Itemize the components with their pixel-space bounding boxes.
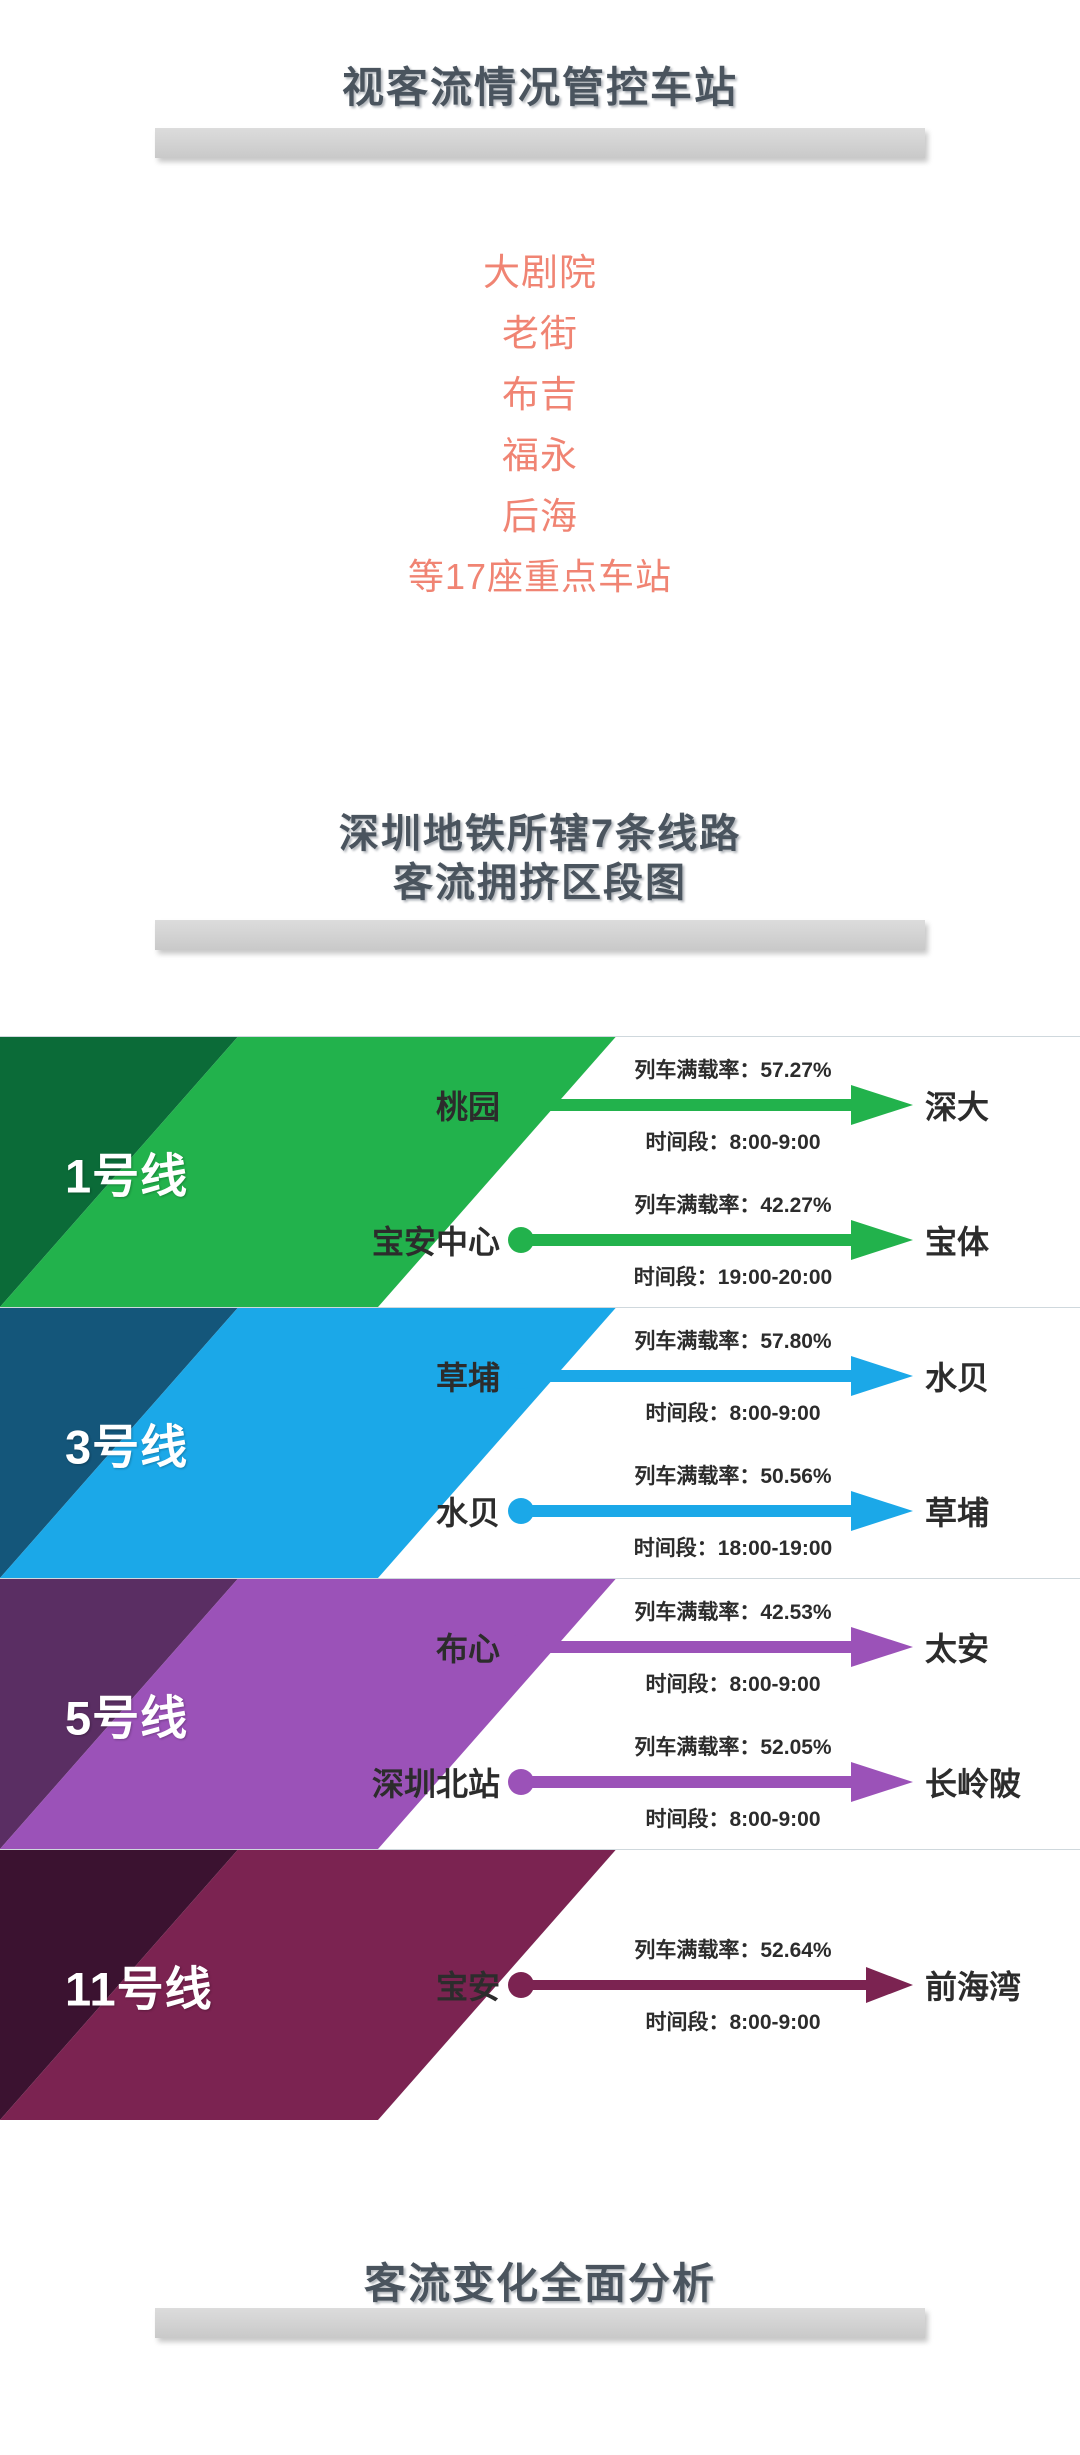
origin-station-label: 布心 — [330, 1624, 508, 1670]
section-heading-banner: 深圳地铁所辖7条线路 客流拥挤区段图 — [0, 800, 1080, 908]
destination-station-label: 草埔 — [913, 1488, 989, 1534]
flow-row-group: 草埔 列车满载率：57.80% 时间段：8:00-9:00 水贝 水贝 — [330, 1308, 1080, 1578]
flow-arrow-group: 列车满载率：42.27% 时间段：19:00-20:00 — [508, 1185, 913, 1295]
heading-bar-decoration — [155, 128, 925, 158]
direction-arrow-icon — [521, 1220, 913, 1260]
flow-row-group: 宝安 列车满载率：52.64% 时间段：8:00-9:00 前海湾 — [330, 1850, 1080, 2120]
list-item: 布吉 — [0, 364, 1080, 425]
flow-row-group: 布心 列车满载率：42.53% 时间段：8:00-9:00 太安 深圳北站 — [330, 1579, 1080, 1849]
flow-row: 宝安 列车满载率：52.64% 时间段：8:00-9:00 前海湾 — [330, 1925, 1080, 2045]
line-band-5: 5号线 布心 列车满载率：42.53% 时间段：8:00-9:00 太安 深圳北… — [0, 1578, 1080, 1849]
list-item: 老街 — [0, 303, 1080, 364]
load-rate-label: 列车满载率：52.64% — [548, 1934, 918, 1964]
page-title: 视客流情况管控车站 — [0, 0, 1080, 113]
flow-arrow-group: 列车满载率：50.56% 时间段：18:00-19:00 — [508, 1456, 913, 1566]
flow-row: 深圳北站 列车满载率：52.05% 时间段：8:00-9:00 长岭陂 — [330, 1722, 1080, 1842]
origin-station-label: 宝安 — [330, 1962, 508, 2008]
time-period-label: 时间段：19:00-20:00 — [548, 1261, 918, 1291]
flow-arrow-group: 列车满载率：42.53% 时间段：8:00-9:00 — [508, 1592, 913, 1702]
flow-arrow-group: 列车满载率：57.80% 时间段：8:00-9:00 — [508, 1321, 913, 1431]
line-name-label: 3号线 — [65, 1409, 188, 1478]
load-rate-label: 列车满载率：50.56% — [548, 1460, 918, 1490]
heading-bar-decoration — [155, 920, 925, 950]
flow-arrow-group: 列车满载率：52.64% 时间段：8:00-9:00 — [508, 1930, 913, 2040]
time-period-label: 时间段：8:00-9:00 — [548, 1668, 918, 1698]
direction-arrow-icon — [521, 1627, 913, 1667]
direction-arrow-icon — [521, 1491, 913, 1531]
list-item: 福永 — [0, 425, 1080, 486]
flow-row: 桃园 列车满载率：57.27% 时间段：8:00-9:00 深大 — [330, 1045, 1080, 1165]
bottom-title: 客流变化全面分析 — [0, 2250, 1080, 2309]
direction-arrow-icon — [521, 1762, 913, 1802]
list-item: 后海 — [0, 486, 1080, 547]
direction-arrow-icon — [521, 1965, 913, 2005]
flow-row: 水贝 列车满载率：50.56% 时间段：18:00-19:00 草埔 — [330, 1451, 1080, 1571]
metro-line-bands: 1号线 桃园 列车满载率：57.27% 时间段：8:00-9:00 深大 宝安中… — [0, 1036, 1080, 2120]
origin-station-label: 宝安中心 — [330, 1217, 508, 1263]
line-band-1: 1号线 桃园 列车满载率：57.27% 时间段：8:00-9:00 深大 宝安中… — [0, 1036, 1080, 1307]
list-item: 大剧院 — [0, 242, 1080, 303]
flow-row: 宝安中心 列车满载率：42.27% 时间段：19:00-20:00 宝体 — [330, 1180, 1080, 1300]
origin-station-label: 草埔 — [330, 1353, 508, 1399]
destination-station-label: 长岭陂 — [913, 1759, 1021, 1805]
flow-row: 草埔 列车满载率：57.80% 时间段：8:00-9:00 水贝 — [330, 1316, 1080, 1436]
destination-station-label: 宝体 — [913, 1217, 989, 1263]
time-period-label: 时间段：8:00-9:00 — [548, 1126, 918, 1156]
load-rate-label: 列车满载率：42.53% — [548, 1596, 918, 1626]
bottom-heading-banner: 客流变化全面分析 — [0, 2250, 1080, 2309]
section-title: 深圳地铁所辖7条线路 客流拥挤区段图 — [0, 800, 1080, 908]
destination-station-label: 水贝 — [913, 1353, 989, 1399]
load-rate-label: 列车满载率：57.80% — [548, 1325, 918, 1355]
load-rate-label: 列车满载率：42.27% — [548, 1189, 918, 1219]
time-period-label: 时间段：18:00-19:00 — [548, 1532, 918, 1562]
load-rate-label: 列车满载率：57.27% — [548, 1054, 918, 1084]
direction-arrow-icon — [521, 1085, 913, 1125]
flow-row-group: 桃园 列车满载率：57.27% 时间段：8:00-9:00 深大 宝安中心 — [330, 1037, 1080, 1307]
flow-row: 布心 列车满载率：42.53% 时间段：8:00-9:00 太安 — [330, 1587, 1080, 1707]
line-name-label: 5号线 — [65, 1680, 188, 1749]
load-rate-label: 列车满载率：52.05% — [548, 1731, 918, 1761]
line-name-label: 11号线 — [65, 1951, 213, 2020]
list-item-summary: 等17座重点车站 — [0, 547, 1080, 607]
time-period-label: 时间段：8:00-9:00 — [548, 1803, 918, 1833]
line-band-3: 3号线 草埔 列车满载率：57.80% 时间段：8:00-9:00 水贝 水贝 — [0, 1307, 1080, 1578]
line-name-label: 1号线 — [65, 1138, 188, 1207]
destination-station-label: 太安 — [913, 1624, 989, 1670]
heading-bar-decoration — [155, 2308, 925, 2338]
origin-station-label: 水贝 — [330, 1488, 508, 1534]
time-period-label: 时间段：8:00-9:00 — [548, 2006, 918, 2036]
destination-station-label: 前海湾 — [913, 1962, 1021, 2008]
origin-station-label: 桃园 — [330, 1082, 508, 1128]
origin-station-label: 深圳北站 — [330, 1759, 508, 1805]
flow-arrow-group: 列车满载率：57.27% 时间段：8:00-9:00 — [508, 1050, 913, 1160]
key-station-list: 大剧院 老街 布吉 福永 后海 等17座重点车站 — [0, 242, 1080, 607]
time-period-label: 时间段：8:00-9:00 — [548, 1397, 918, 1427]
line-band-11: 11号线 宝安 列车满载率：52.64% 时间段：8:00-9:00 前海湾 — [0, 1849, 1080, 2120]
flow-arrow-group: 列车满载率：52.05% 时间段：8:00-9:00 — [508, 1727, 913, 1837]
destination-station-label: 深大 — [913, 1082, 989, 1128]
top-heading-banner: 视客流情况管控车站 — [0, 0, 1080, 113]
direction-arrow-icon — [521, 1356, 913, 1396]
